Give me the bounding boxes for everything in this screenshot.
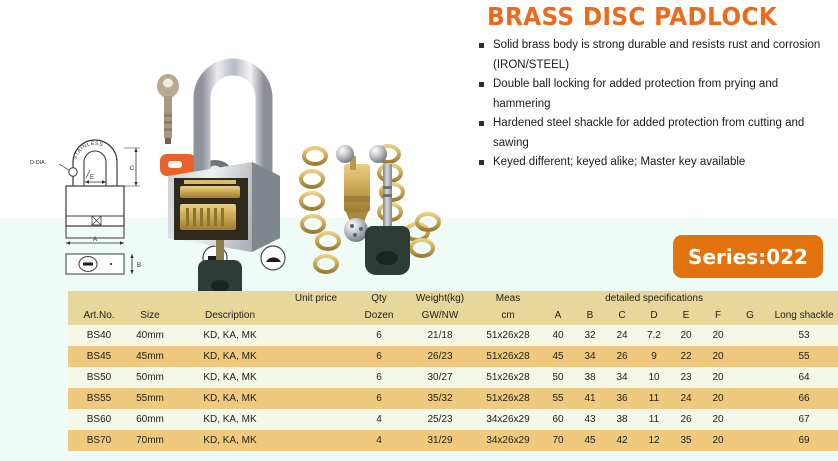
- cell-art-no: BS70: [68, 430, 120, 451]
- cell-dim-f: 20: [702, 430, 734, 451]
- cell-dim-g: [734, 430, 766, 451]
- cell-unit-price: [280, 325, 352, 346]
- header-dim-b: B: [574, 306, 606, 325]
- cell-long-shackle: 64: [766, 367, 838, 388]
- table-row: BS60 60mm KD, KA, MK 4 25/23 34x26x29 60…: [68, 409, 838, 430]
- silver-key: [157, 74, 179, 144]
- header-detailed-specifications: detailed specifications: [542, 291, 766, 306]
- cell-long-shackle: 53: [766, 325, 838, 346]
- cell-dim-f: 20: [702, 367, 734, 388]
- drawing-label-e: E: [90, 175, 94, 181]
- header-unit-price-line1: Unit price: [280, 291, 352, 306]
- cell-art-no: BS55: [68, 388, 120, 409]
- cell-unit-price: [280, 367, 352, 388]
- product-photo: [140, 36, 470, 291]
- cell-weight: 30/27: [406, 367, 474, 388]
- cell-unit-price: [280, 409, 352, 430]
- header-dim-a: A: [542, 306, 574, 325]
- cell-dim-c: 26: [606, 346, 638, 367]
- cell-meas: 51x26x28: [474, 325, 542, 346]
- cell-dim-e: 26: [670, 409, 702, 430]
- cell-description: KD, KA, MK: [172, 346, 280, 367]
- cell-dim-a: 55: [542, 388, 574, 409]
- cell-dim-d: 11: [638, 388, 670, 409]
- drawing-label-d-dia: D-DIA: [30, 160, 45, 166]
- header-size: Size: [120, 306, 172, 325]
- cell-qty-dozen: 6: [352, 346, 406, 367]
- cell-dim-c: 42: [606, 430, 638, 451]
- feature-text: Keyed different; keyed alike; Master key…: [493, 156, 745, 168]
- cell-description: KD, KA, MK: [172, 409, 280, 430]
- table-row: BS50 50mm KD, KA, MK 6 30/27 51x26x28 50…: [68, 367, 838, 388]
- cell-dim-a: 40: [542, 325, 574, 346]
- keyway-icon-right: [261, 246, 285, 270]
- table-body: BS40 40mm KD, KA, MK 6 21/18 51x26x28 40…: [68, 325, 838, 451]
- header-weight-line1: Weight(kg): [406, 291, 474, 306]
- header-qty-line1: Qty: [352, 291, 406, 306]
- cell-dim-a: 50: [542, 367, 574, 388]
- cell-dim-c: 38: [606, 409, 638, 430]
- cell-dim-a: 45: [542, 346, 574, 367]
- cell-description: KD, KA, MK: [172, 430, 280, 451]
- table-row: BS45 45mm KD, KA, MK 6 26/23 51x26x28 45…: [68, 346, 838, 367]
- cell-dim-b: 43: [574, 409, 606, 430]
- specifications-table: Unit price Qty Weight(kg) Meas detailed …: [68, 291, 838, 451]
- square-bullet-icon: [479, 160, 484, 165]
- cell-dim-b: 38: [574, 367, 606, 388]
- cell-size: 45mm: [120, 346, 172, 367]
- series-badge-label: Series:022: [688, 245, 808, 269]
- cell-dim-c: 34: [606, 367, 638, 388]
- page-title: BRASS DISC PADLOCK: [487, 2, 777, 31]
- cell-art-no: BS45: [68, 346, 120, 367]
- cell-unit-price: [280, 430, 352, 451]
- cell-size: 70mm: [120, 430, 172, 451]
- cell-dim-g: [734, 346, 766, 367]
- header-qty-line2: Dozen: [352, 306, 406, 325]
- list-item: Hardened steel shackle for added protect…: [479, 114, 829, 153]
- cell-dim-f: 20: [702, 325, 734, 346]
- list-item: Keyed different; keyed alike; Master key…: [479, 153, 829, 173]
- cell-dim-b: 45: [574, 430, 606, 451]
- header-spacer-shackle: [766, 291, 838, 306]
- cell-dim-d: 10: [638, 367, 670, 388]
- header-spacer-desc: [172, 291, 280, 306]
- cell-qty-dozen: 6: [352, 325, 406, 346]
- cell-long-shackle: 69: [766, 430, 838, 451]
- header-weight-line2: GW/NW: [406, 306, 474, 325]
- cell-description: KD, KA, MK: [172, 325, 280, 346]
- table-header-row-top: Unit price Qty Weight(kg) Meas detailed …: [68, 291, 838, 306]
- cell-size: 50mm: [120, 367, 172, 388]
- list-item: Solid brass body is strong durable and r…: [479, 36, 829, 75]
- cell-weight: 21/18: [406, 325, 474, 346]
- cell-qty-dozen: 4: [352, 430, 406, 451]
- header-dim-g: G: [734, 306, 766, 325]
- cell-unit-price: [280, 346, 352, 367]
- header-dim-f: F: [702, 306, 734, 325]
- cell-meas: 51x26x28: [474, 367, 542, 388]
- cell-meas: 51x26x28: [474, 346, 542, 367]
- cell-qty-dozen: 4: [352, 409, 406, 430]
- cell-dim-b: 32: [574, 325, 606, 346]
- cell-dim-e: 20: [670, 325, 702, 346]
- header-art-no: Art.No.: [68, 306, 120, 325]
- cell-weight: 31/29: [406, 430, 474, 451]
- feature-text: Double ball locking for added protection…: [493, 78, 778, 110]
- cell-size: 60mm: [120, 409, 172, 430]
- cell-long-shackle: 66: [766, 388, 838, 409]
- header-spacer-size: [120, 291, 172, 306]
- cell-meas: 34x26x29: [474, 430, 542, 451]
- cell-description: KD, KA, MK: [172, 388, 280, 409]
- header-dim-c: C: [606, 306, 638, 325]
- square-bullet-icon: [479, 43, 484, 48]
- cell-dim-g: [734, 388, 766, 409]
- header-meas-line1: Meas: [474, 291, 542, 306]
- list-item: Double ball locking for added protection…: [479, 75, 829, 114]
- square-bullet-icon: [479, 121, 484, 126]
- cell-meas: 51x26x28: [474, 388, 542, 409]
- cell-qty-dozen: 6: [352, 388, 406, 409]
- cell-dim-e: 24: [670, 388, 702, 409]
- cell-dim-f: 20: [702, 409, 734, 430]
- cell-weight: 25/23: [406, 409, 474, 430]
- cell-dim-a: 60: [542, 409, 574, 430]
- cell-unit-price: [280, 388, 352, 409]
- square-bullet-icon: [479, 82, 484, 87]
- header-spacer-art: [68, 291, 120, 306]
- cell-dim-e: 22: [670, 346, 702, 367]
- cell-long-shackle: 67: [766, 409, 838, 430]
- cell-dim-g: [734, 367, 766, 388]
- black-head-key: [365, 164, 410, 275]
- cell-dim-d: 12: [638, 430, 670, 451]
- cell-dim-g: [734, 409, 766, 430]
- header-description: Description: [172, 306, 280, 325]
- table-row: BS55 55mm KD, KA, MK 6 35/32 51x26x28 55…: [68, 388, 838, 409]
- feature-text: Hardened steel shackle for added protect…: [493, 117, 804, 149]
- table-row: BS40 40mm KD, KA, MK 6 21/18 51x26x28 40…: [68, 325, 838, 346]
- header-long-shackle: Long shackle: [766, 306, 838, 325]
- header-meas-line2: cm: [474, 306, 542, 325]
- drawing-label-c: C: [130, 166, 135, 172]
- header-dim-e: E: [670, 306, 702, 325]
- cell-weight: 35/32: [406, 388, 474, 409]
- feature-list: Solid brass body is strong durable and r…: [479, 36, 829, 173]
- drawing-label-a: A: [93, 237, 97, 243]
- cell-dim-b: 41: [574, 388, 606, 409]
- cell-dim-e: 35: [670, 430, 702, 451]
- cell-dim-b: 34: [574, 346, 606, 367]
- cell-long-shackle: 55: [766, 346, 838, 367]
- header-unit-price-line2: [280, 306, 352, 325]
- cell-dim-c: 24: [606, 325, 638, 346]
- table-row: BS70 70mm KD, KA, MK 4 31/29 34x26x29 70…: [68, 430, 838, 451]
- cell-qty-dozen: 6: [352, 367, 406, 388]
- datasheet-page: BRASS DISC PADLOCK Solid brass body is s…: [0, 0, 838, 461]
- cell-dim-d: 9: [638, 346, 670, 367]
- feature-text: Solid brass body is strong durable and r…: [493, 39, 820, 71]
- cell-dim-c: 36: [606, 388, 638, 409]
- series-badge: Series:022: [673, 235, 823, 278]
- cell-dim-e: 23: [670, 367, 702, 388]
- header-dim-d: D: [638, 306, 670, 325]
- cell-art-no: BS40: [68, 325, 120, 346]
- cell-meas: 34x26x29: [474, 409, 542, 430]
- cell-dim-d: 7.2: [638, 325, 670, 346]
- cell-dim-a: 70: [542, 430, 574, 451]
- cell-dim-g: [734, 325, 766, 346]
- cell-dim-f: 20: [702, 346, 734, 367]
- cell-dim-f: 20: [702, 388, 734, 409]
- cell-dim-d: 11: [638, 409, 670, 430]
- cell-description: KD, KA, MK: [172, 367, 280, 388]
- cell-art-no: BS50: [68, 367, 120, 388]
- table-header-row-bottom: Art.No. Size Description Dozen GW/NW cm …: [68, 306, 838, 325]
- cell-size: 55mm: [120, 388, 172, 409]
- cell-art-no: BS60: [68, 409, 120, 430]
- cell-weight: 26/23: [406, 346, 474, 367]
- cell-size: 40mm: [120, 325, 172, 346]
